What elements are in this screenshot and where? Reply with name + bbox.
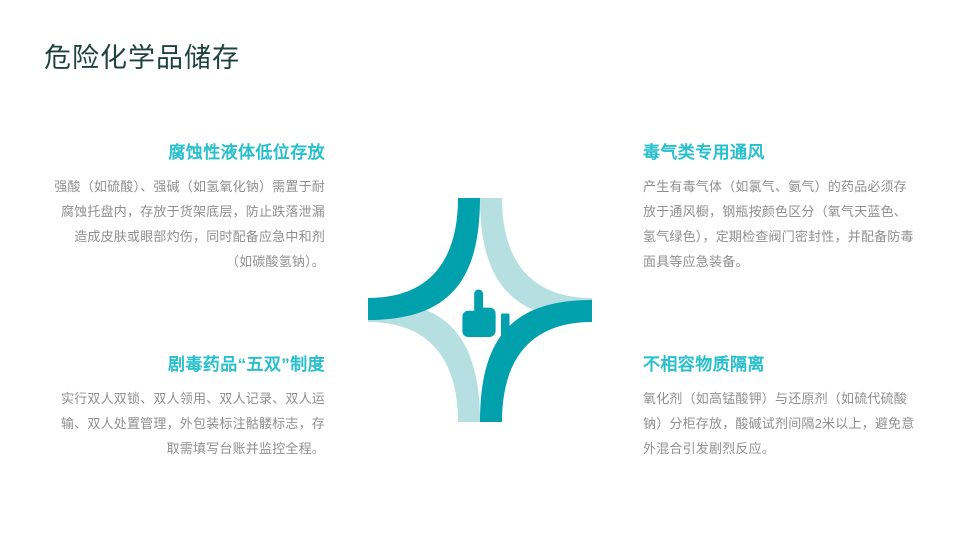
block-body-corrosive: 强酸（如硫酸）、强碱（如氢氧化钠）需置于耐腐蚀托盘内，存放于货架底层，防止跌落泄… [48, 174, 325, 274]
content-block-poison: 剧毒药品“五双”制度 实行双人双锁、双人领用、双人记录、双人运输、双人处置管理，… [48, 353, 325, 461]
block-heading-poison: 剧毒药品“五双”制度 [48, 353, 325, 377]
thumbs-up-icon [462, 290, 509, 338]
content-block-incompatible: 不相容物质隔离 氧化剂（如高锰酸钾）与还原剂（如硫代硫酸钠）分柜存放，酸碱试剂间… [643, 353, 920, 461]
content-block-toxic-gas: 毒气类专用通风 产生有毒气体（如氯气、氨气）的药品必须存放于通风橱，钢瓶按颜色区… [643, 141, 920, 274]
block-body-toxic-gas: 产生有毒气体（如氯气、氨气）的药品必须存放于通风橱，钢瓶按颜色区分（氧气天蓝色、… [643, 174, 920, 274]
block-body-poison: 实行双人双锁、双人领用、双人记录、双人运输、双人处置管理，外包装标注骷髅标志，存… [48, 386, 325, 461]
block-heading-incompatible: 不相容物质隔离 [643, 353, 920, 377]
four-point-star-icon [360, 190, 600, 430]
slide-canvas: 危险化学品储存 腐蚀性液体低位存放 强酸（如硫酸）、强碱（如氢氧化钠）需置于耐腐… [0, 0, 960, 540]
block-heading-toxic-gas: 毒气类专用通风 [643, 141, 920, 165]
center-graphic [360, 190, 600, 430]
block-heading-corrosive: 腐蚀性液体低位存放 [48, 141, 325, 165]
content-block-corrosive: 腐蚀性液体低位存放 强酸（如硫酸）、强碱（如氢氧化钠）需置于耐腐蚀托盘内，存放于… [48, 141, 325, 274]
block-body-incompatible: 氧化剂（如高锰酸钾）与还原剂（如硫代硫酸钠）分柜存放，酸碱试剂间隔2米以上，避免… [643, 386, 920, 461]
page-title: 危险化学品储存 [44, 40, 240, 76]
